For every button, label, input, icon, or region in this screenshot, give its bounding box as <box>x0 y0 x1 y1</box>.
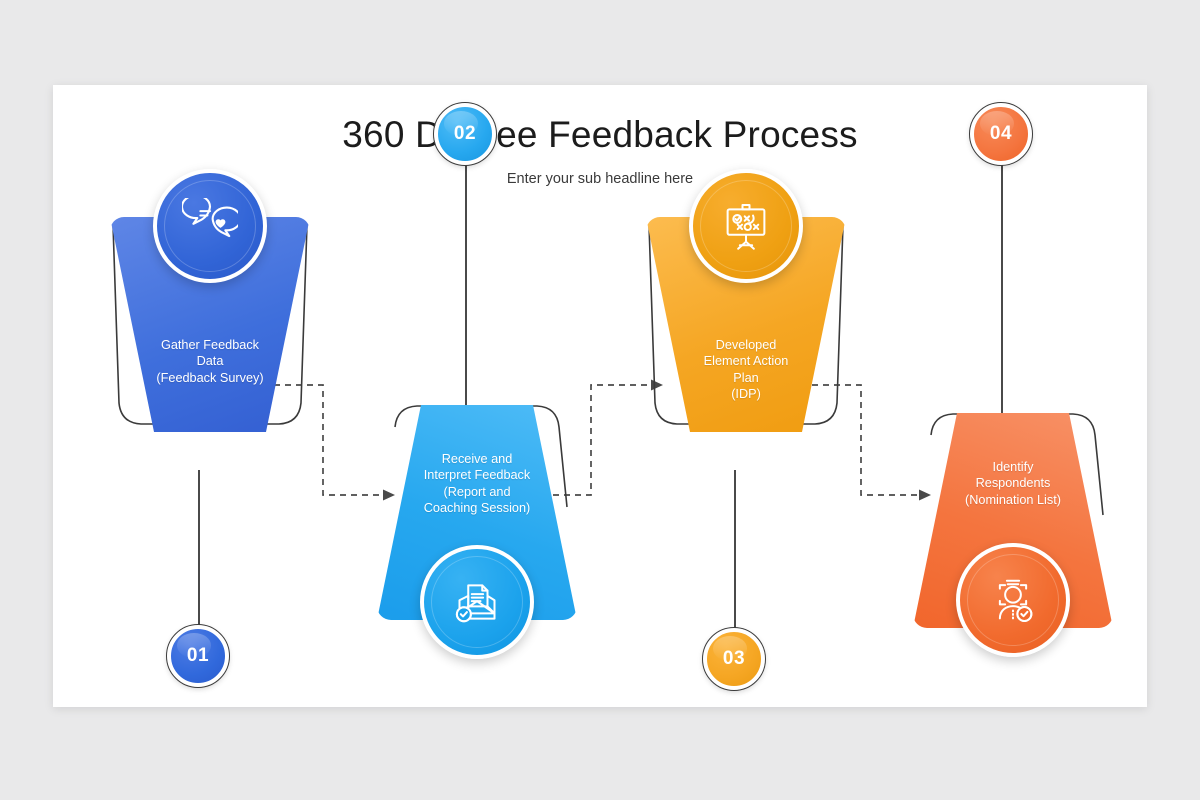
step-4-stem <box>1001 165 1003 413</box>
step-1-number-badge[interactable]: 01 <box>167 625 229 687</box>
chat-bubbles-heart-icon <box>182 198 238 254</box>
process-diagram: Gather Feedback Data (Feedback Survey) 0… <box>53 85 1147 707</box>
step-2-stem <box>465 165 467 405</box>
step-1-number: 01 <box>187 645 209 667</box>
slide-canvas: 360 Degree Feedback Process Enter your s… <box>53 85 1147 707</box>
process-step-1[interactable]: Gather Feedback Data (Feedback Survey) 0… <box>99 85 359 707</box>
step-2-icon-disc[interactable] <box>420 545 534 659</box>
step-4-number-badge[interactable]: 04 <box>970 103 1032 165</box>
process-step-2[interactable]: Receive and Interpret Feedback (Report a… <box>370 85 630 707</box>
step-1-icon-disc[interactable] <box>153 169 267 283</box>
person-scan-check-icon <box>985 572 1041 628</box>
step-4-label: Identify Respondents (Nomination List) <box>913 459 1113 508</box>
step-4-number: 04 <box>990 123 1012 145</box>
process-step-4[interactable]: Identify Respondents (Nomination List) 0… <box>906 85 1166 707</box>
step-3-number: 03 <box>723 648 745 670</box>
step-2-number-badge[interactable]: 02 <box>434 103 496 165</box>
process-step-3[interactable]: Developed Element Action Plan (IDP) <box>635 85 895 707</box>
step-1-label: Gather Feedback Data (Feedback Survey) <box>110 337 310 386</box>
step-4-icon-disc[interactable] <box>956 543 1070 657</box>
step-3-stem <box>734 470 736 628</box>
envelope-document-check-icon <box>449 574 505 630</box>
step-3-number-badge[interactable]: 03 <box>703 628 765 690</box>
strategy-board-icon <box>718 198 774 254</box>
step-2-label: Receive and Interpret Feedback (Report a… <box>377 451 577 517</box>
step-3-icon-disc[interactable] <box>689 169 803 283</box>
step-1-stem <box>198 470 200 625</box>
step-3-label: Developed Element Action Plan (IDP) <box>646 337 846 403</box>
step-2-number: 02 <box>454 123 476 145</box>
